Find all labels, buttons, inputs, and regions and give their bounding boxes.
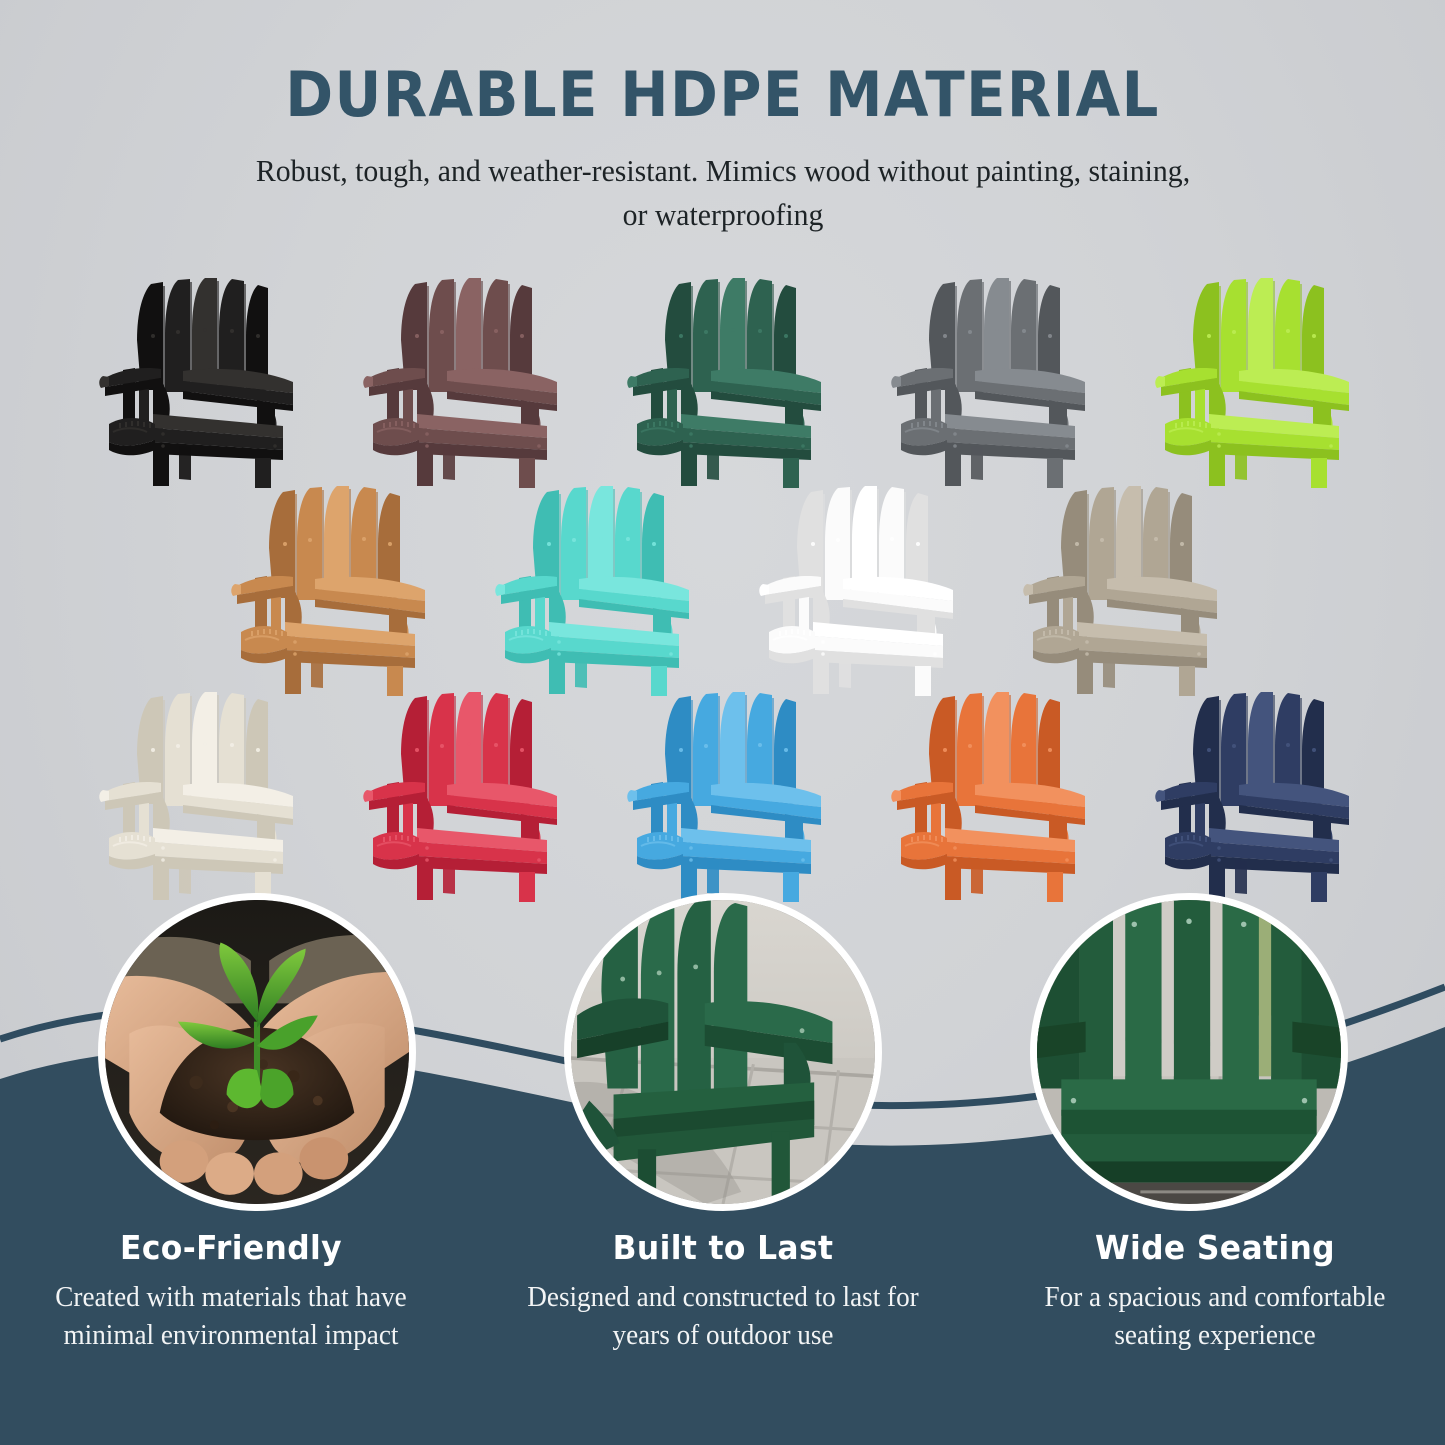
chair-swatch-red[interactable] — [333, 686, 585, 902]
adirondack-chair-graphic — [343, 688, 575, 902]
adirondack-chair-graphic — [79, 688, 311, 902]
chair-swatch-cedar[interactable] — [201, 480, 453, 696]
page-subtitle: Robust, tough, and weather-resistant. Mi… — [243, 149, 1203, 237]
header: DURABLE HDPE MATERIAL Robust, tough, and… — [0, 62, 1445, 237]
photo-wide-seat-closeup — [1030, 893, 1348, 1211]
feature-title: Eco-Friendly — [16, 1228, 445, 1267]
adirondack-chair-graphic — [1003, 482, 1235, 696]
adirondack-chair-graphic — [1135, 274, 1367, 488]
page-title: DURABLE HDPE MATERIAL — [51, 62, 1395, 127]
chair-swatch-navy-blue[interactable] — [1125, 686, 1377, 902]
feature-title: Built to Last — [508, 1228, 937, 1267]
adirondack-chair-graphic — [475, 482, 707, 696]
adirondack-chair-graphic — [871, 274, 1103, 488]
adirondack-chair-graphic — [607, 688, 839, 902]
chair-swatch-gray[interactable] — [861, 272, 1113, 488]
feature-wide-seating: Wide Seating For a spacious and comforta… — [989, 1228, 1441, 1355]
feature-captions: Eco-Friendly Created with materials that… — [0, 1228, 1445, 1355]
chair-swatch-sky-blue[interactable] — [597, 686, 849, 902]
feature-title: Wide Seating — [1000, 1228, 1429, 1267]
feature-built-to-last: Built to Last Designed and constructed t… — [497, 1228, 949, 1355]
photo-green-chair-on-patio — [564, 893, 882, 1211]
adirondack-chair-graphic — [343, 274, 575, 488]
chair-swatch-dark-green[interactable] — [597, 272, 849, 488]
photo-hands-holding-seedling — [98, 893, 416, 1211]
chair-swatch-turquoise[interactable] — [465, 480, 717, 696]
chair-color-grid — [0, 272, 1445, 902]
chair-swatch-orange[interactable] — [861, 686, 1113, 902]
chair-swatch-black[interactable] — [69, 272, 321, 488]
infographic-page: DURABLE HDPE MATERIAL Robust, tough, and… — [0, 0, 1445, 1445]
adirondack-chair-graphic — [739, 482, 971, 696]
adirondack-chair-graphic — [607, 274, 839, 488]
chair-swatch-ivory[interactable] — [69, 686, 321, 902]
chair-swatch-lime-green[interactable] — [1125, 272, 1377, 488]
adirondack-chair-graphic — [79, 274, 311, 488]
chair-swatch-weathered-wood[interactable] — [993, 480, 1245, 696]
chair-swatch-white[interactable] — [729, 480, 981, 696]
feature-description: For a spacious and comfortable seating e… — [1011, 1279, 1418, 1355]
chair-row-1 — [0, 272, 1445, 488]
chair-swatch-brown[interactable] — [333, 272, 585, 488]
feature-description: Created with materials that have minimal… — [27, 1279, 434, 1355]
chair-row-2 — [0, 480, 1445, 696]
chair-row-3 — [0, 686, 1445, 902]
adirondack-chair-graphic — [871, 688, 1103, 902]
adirondack-chair-graphic — [211, 482, 443, 696]
feature-photos — [0, 893, 1445, 1211]
feature-description: Designed and constructed to last for yea… — [519, 1279, 926, 1355]
adirondack-chair-graphic — [1135, 688, 1367, 902]
feature-eco-friendly: Eco-Friendly Created with materials that… — [5, 1228, 457, 1355]
